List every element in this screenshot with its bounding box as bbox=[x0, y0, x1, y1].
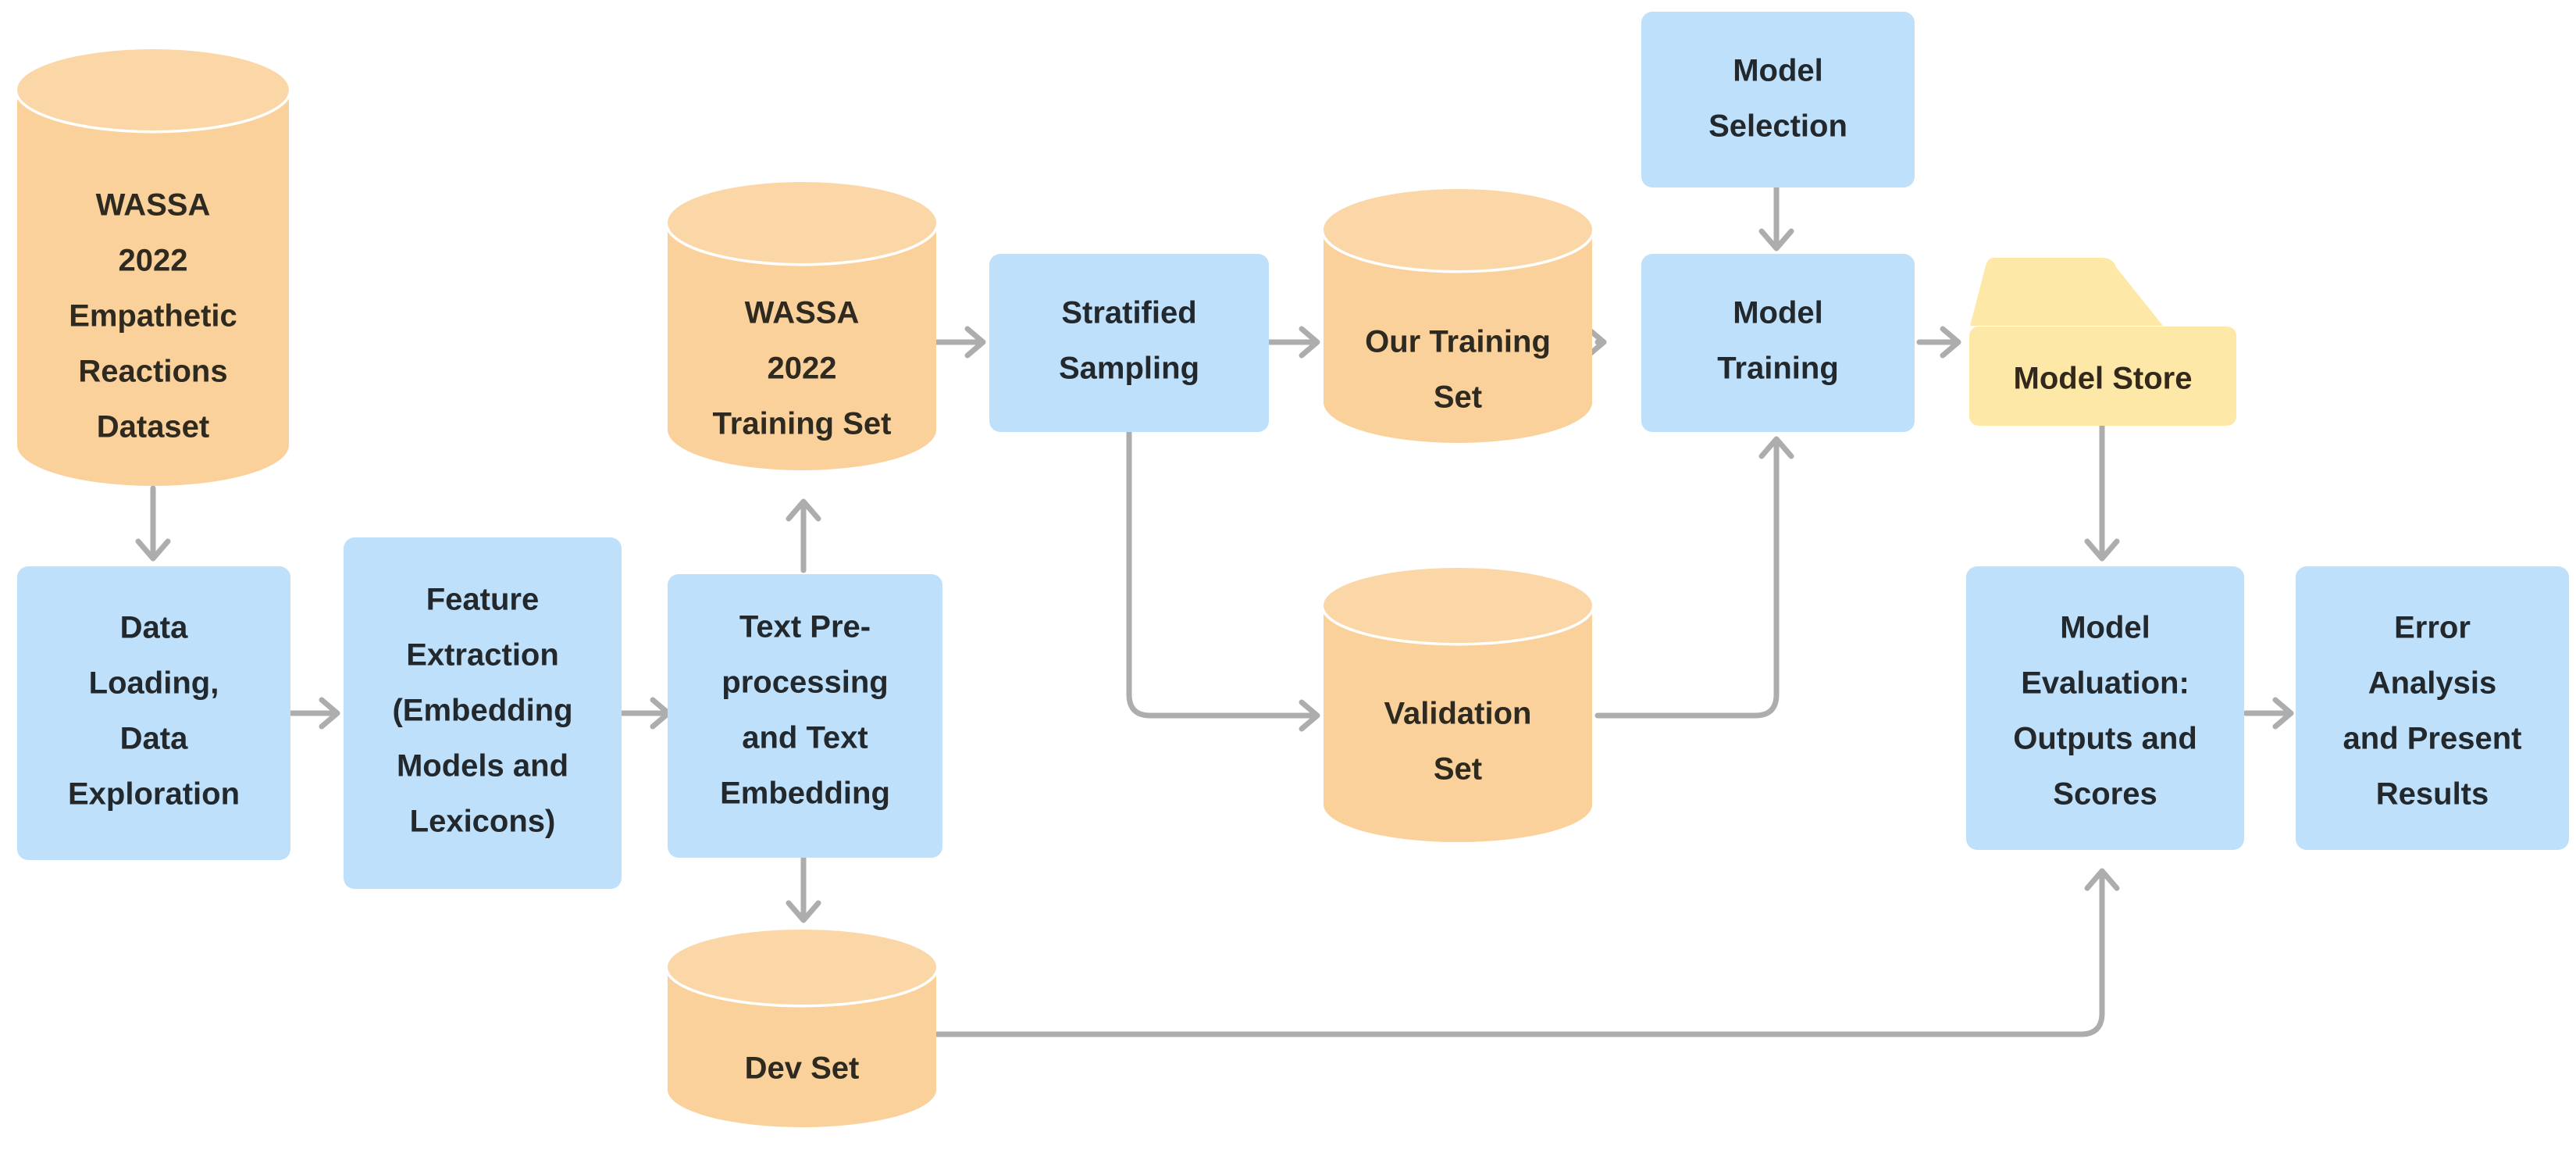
node-feature-extraction[interactable]: Feature Extraction (Embedding Models and… bbox=[344, 537, 622, 889]
node-label-line: (Embedding bbox=[392, 694, 572, 728]
node-label-line: Embedding bbox=[720, 776, 890, 811]
node-label-line: Training Set bbox=[713, 407, 892, 441]
edge-data-loading-to-feature-extraction bbox=[290, 700, 337, 726]
node-wassa-dataset[interactable]: WASSA 2022 Empathetic Reactions Dataset bbox=[17, 49, 289, 486]
edge-feature-extraction-to-text-preprocessing bbox=[622, 700, 668, 726]
node-error-analysis[interactable]: Error Analysis and Present Results bbox=[2296, 566, 2569, 850]
node-label-line: Selection bbox=[1708, 109, 1847, 144]
edge-model-selection-to-model-training bbox=[1762, 187, 1791, 248]
node-label-line: Outputs and bbox=[2013, 722, 2197, 756]
edge-model-evaluation-to-error-analysis bbox=[2246, 700, 2291, 726]
node-label-line: Our Training bbox=[1365, 325, 1551, 359]
node-label-line: Feature bbox=[426, 583, 540, 617]
node-label-line: Data bbox=[120, 722, 188, 756]
edge-stratified-sampling-to-validation-set bbox=[1129, 432, 1317, 729]
node-label-line: Set bbox=[1434, 380, 1482, 415]
node-label-line: Evaluation: bbox=[2021, 666, 2189, 701]
edge-model-training-to-model-store bbox=[1919, 329, 1958, 355]
node-label-line: Exploration bbox=[68, 777, 240, 812]
node-label-line: Models and bbox=[397, 749, 568, 784]
flowchart-svg: WASSA 2022 Empathetic Reactions Dataset … bbox=[0, 0, 2576, 1153]
edge-model-store-to-model-evaluation bbox=[2087, 426, 2117, 559]
node-our-training-set[interactable]: Our Training Set bbox=[1324, 189, 1592, 443]
node-model-selection[interactable]: Model Selection bbox=[1641, 12, 1915, 187]
edge-validation-set-to-model-training bbox=[1598, 439, 1791, 716]
node-label-line: Dataset bbox=[97, 410, 210, 444]
node-label-line: Lexicons) bbox=[410, 805, 556, 839]
node-label-line: WASSA bbox=[745, 296, 860, 330]
node-label-line: Model bbox=[1733, 54, 1823, 88]
edge-dataset-to-data-loading bbox=[138, 488, 168, 559]
node-label-line: and Present bbox=[2343, 722, 2522, 756]
nodes-layer: WASSA 2022 Empathetic Reactions Dataset … bbox=[17, 12, 2569, 1127]
node-model-training[interactable]: Model Training bbox=[1641, 254, 1915, 432]
node-label-line: and Text bbox=[742, 721, 868, 755]
node-label-line: Empathetic bbox=[69, 299, 237, 334]
node-label-line: Analysis bbox=[2368, 666, 2497, 701]
node-label-line: Loading, bbox=[89, 666, 219, 701]
node-model-store[interactable]: Model Store bbox=[1969, 258, 2236, 426]
node-label-line: Dev Set bbox=[745, 1051, 860, 1086]
edge-text-preprocessing-to-wassa-training-set bbox=[789, 502, 818, 570]
node-label-line: Stratified bbox=[1061, 296, 1196, 330]
edge-stratified-sampling-to-our-training-set bbox=[1269, 329, 1317, 355]
edge-dev-set-to-model-evaluation bbox=[937, 871, 2117, 1034]
node-label-line: Text Pre- bbox=[739, 610, 871, 644]
node-label-line: Model bbox=[1733, 296, 1823, 330]
node-validation-set[interactable]: Validation Set bbox=[1324, 568, 1592, 842]
node-label-line: Set bbox=[1434, 752, 1482, 787]
edge-text-preprocessing-to-dev-set bbox=[789, 858, 818, 920]
node-label-line: Model Store bbox=[2014, 362, 2193, 396]
node-label-line: Extraction bbox=[406, 638, 559, 673]
node-label-line: processing bbox=[721, 666, 888, 700]
node-label-line: Data bbox=[120, 611, 188, 645]
node-label-line: Model bbox=[2060, 611, 2150, 645]
node-stratified-sampling[interactable]: Stratified Sampling bbox=[989, 254, 1269, 432]
node-text-preprocessing[interactable]: Text Pre- processing and Text Embedding bbox=[668, 574, 942, 858]
node-label-line: Error bbox=[2394, 611, 2471, 645]
node-model-evaluation[interactable]: Model Evaluation: Outputs and Scores bbox=[1966, 566, 2244, 850]
node-label-line: Sampling bbox=[1059, 352, 1199, 386]
node-label-line: Results bbox=[2376, 777, 2489, 812]
node-label-line: WASSA bbox=[96, 188, 211, 223]
node-label-line: Validation bbox=[1384, 697, 1532, 731]
edge-wassa-training-set-to-stratified-sampling bbox=[937, 329, 983, 355]
flowchart-canvas: WASSA 2022 Empathetic Reactions Dataset … bbox=[0, 0, 2576, 1153]
node-label-line: Scores bbox=[2053, 777, 2157, 812]
node-label-line: Training bbox=[1717, 352, 1839, 386]
node-label-line: 2022 bbox=[119, 244, 188, 278]
node-label-line: 2022 bbox=[768, 352, 837, 386]
node-wassa-training-set[interactable]: WASSA 2022 Training Set bbox=[668, 182, 936, 470]
node-dev-set[interactable]: Dev Set bbox=[668, 930, 936, 1127]
node-data-loading[interactable]: Data Loading, Data Exploration bbox=[17, 566, 290, 860]
node-label-line: Reactions bbox=[78, 355, 227, 389]
